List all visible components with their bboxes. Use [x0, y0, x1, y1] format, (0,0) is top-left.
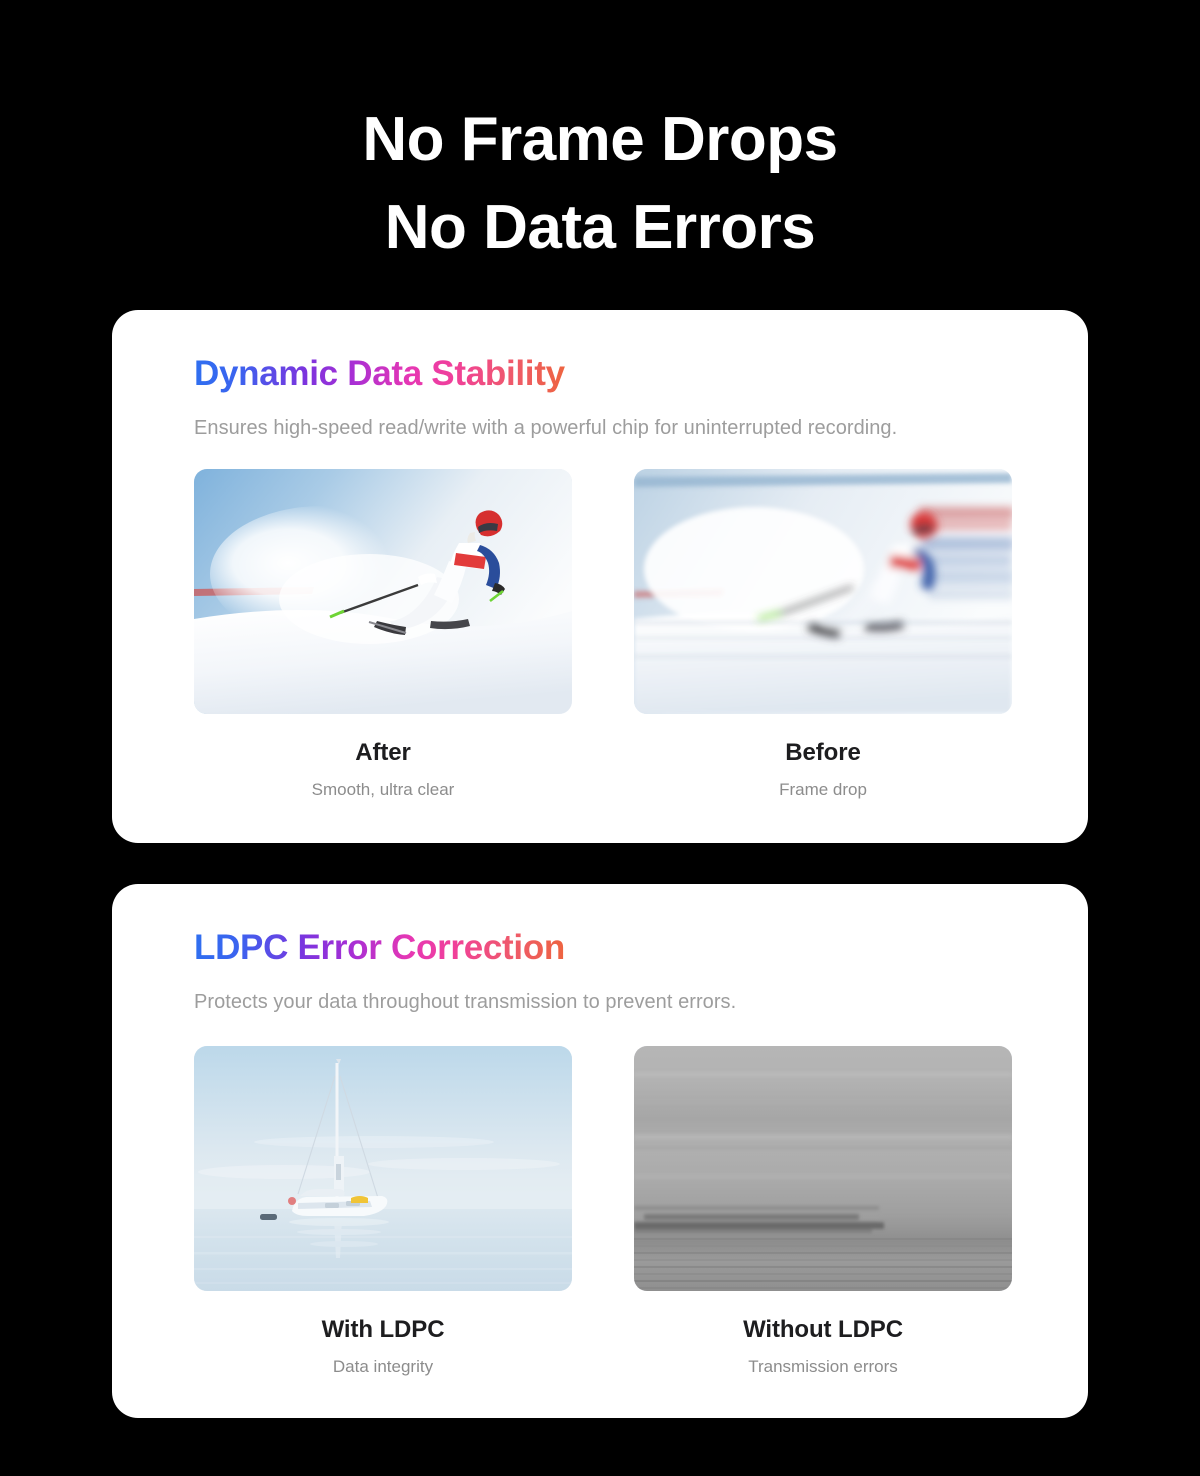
caption-sub-before: Frame drop	[634, 780, 1012, 800]
comparison-item-with-ldpc: With LDPC Data integrity	[194, 1046, 572, 1377]
caption-title-with-ldpc: With LDPC	[194, 1316, 572, 1344]
caption-title-after: After	[194, 739, 572, 767]
corrupted-gray-photo	[634, 1046, 1012, 1291]
caption-sub-without-ldpc: Transmission errors	[634, 1357, 1012, 1377]
comparison-row-1: After Smooth, ultra clear	[194, 469, 1006, 800]
caption-title-without-ldpc: Without LDPC	[634, 1316, 1012, 1344]
card-subtitle-1: Ensures high-speed read/write with a pow…	[194, 413, 984, 445]
hero-line-1: No Frame Drops	[0, 96, 1200, 184]
hero-line-2: No Data Errors	[0, 184, 1200, 272]
skier-motion-blur-photo	[634, 469, 1012, 714]
skier-sharp-photo	[194, 469, 572, 714]
hero-heading: No Frame Drops No Data Errors	[0, 0, 1200, 272]
caption-sub-after: Smooth, ultra clear	[194, 780, 572, 800]
infographic-page: No Frame Drops No Data Errors Dynamic Da…	[0, 0, 1200, 1476]
comparison-item-after: After Smooth, ultra clear	[194, 469, 572, 800]
card-title-1: Dynamic Data Stability	[194, 352, 565, 396]
feature-card-dynamic-data-stability: Dynamic Data Stability Ensures high-spee…	[112, 310, 1088, 843]
comparison-row-2: With LDPC Data integrity	[194, 1046, 1006, 1377]
caption-title-before: Before	[634, 739, 1012, 767]
comparison-item-without-ldpc: Without LDPC Transmission errors	[634, 1046, 1012, 1377]
sailboat-clean-photo	[194, 1046, 572, 1291]
card-title-2: LDPC Error Correction	[194, 926, 565, 970]
feature-card-ldpc-error-correction: LDPC Error Correction Protects your data…	[112, 884, 1088, 1418]
caption-sub-with-ldpc: Data integrity	[194, 1357, 572, 1377]
card-subtitle-2: Protects your data throughout transmissi…	[194, 987, 984, 1019]
comparison-item-before: Before Frame drop	[634, 469, 1012, 800]
